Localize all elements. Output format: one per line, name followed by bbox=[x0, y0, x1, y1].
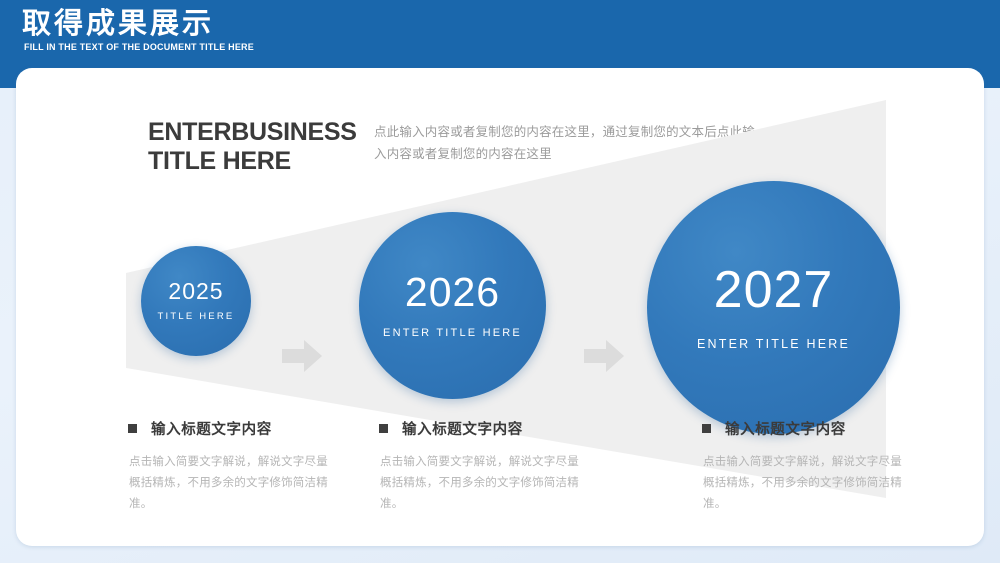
step-label-2026: ENTER TITLE HERE bbox=[383, 328, 522, 339]
bullet-square-icon bbox=[379, 424, 388, 433]
step-year-2026: 2026 bbox=[405, 272, 500, 313]
caption-block-1: 输入标题文字内容 点击输入简要文字解说，解说文字尽量概括精炼，不用多余的文字修饰… bbox=[128, 418, 333, 515]
step-year-2025: 2025 bbox=[168, 280, 223, 303]
caption-body-3: 点击输入简要文字解说，解说文字尽量概括精炼，不用多余的文字修饰简洁精准。 bbox=[702, 452, 907, 515]
step-circle-2026[interactable]: 2026 ENTER TITLE HERE bbox=[359, 212, 546, 399]
caption-header-3: 输入标题文字内容 bbox=[702, 418, 907, 439]
caption-body-2: 点击输入简要文字解说，解说文字尽量概括精炼，不用多余的文字修饰简洁精准。 bbox=[379, 452, 584, 515]
caption-body-1: 点击输入简要文字解说，解说文字尽量概括精炼，不用多余的文字修饰简洁精准。 bbox=[128, 452, 333, 515]
arrow-right-icon bbox=[282, 340, 322, 372]
page-subtitle: FILL IN THE TEXT OF THE DOCUMENT TITLE H… bbox=[24, 42, 254, 52]
arrow-right-icon bbox=[584, 340, 624, 372]
bullet-square-icon bbox=[128, 424, 137, 433]
caption-block-3: 输入标题文字内容 点击输入简要文字解说，解说文字尽量概括精炼，不用多余的文字修饰… bbox=[702, 418, 907, 515]
step-label-2027: ENTER TITLE HERE bbox=[697, 338, 850, 351]
step-label-2025: TITLE HERE bbox=[158, 312, 235, 322]
caption-block-2: 输入标题文字内容 点击输入简要文字解说，解说文字尽量概括精炼，不用多余的文字修饰… bbox=[379, 418, 584, 515]
caption-title-3: 输入标题文字内容 bbox=[725, 418, 846, 439]
caption-header-1: 输入标题文字内容 bbox=[128, 418, 333, 439]
caption-header-2: 输入标题文字内容 bbox=[379, 418, 584, 439]
step-circle-2027[interactable]: 2027 ENTER TITLE HERE bbox=[647, 181, 900, 434]
page-title: 取得成果展示 bbox=[22, 8, 214, 40]
content-card: ENTERBUSINESS TITLE HERE 点此输入内容或者复制您的内容在… bbox=[16, 68, 984, 546]
step-circle-2025[interactable]: 2025 TITLE HERE bbox=[141, 246, 251, 356]
step-year-2027: 2027 bbox=[714, 264, 834, 316]
slide-canvas: 取得成果展示 FILL IN THE TEXT OF THE DOCUMENT … bbox=[0, 0, 1000, 563]
bullet-square-icon bbox=[702, 424, 711, 433]
caption-title-2: 输入标题文字内容 bbox=[402, 418, 523, 439]
caption-title-1: 输入标题文字内容 bbox=[151, 418, 272, 439]
